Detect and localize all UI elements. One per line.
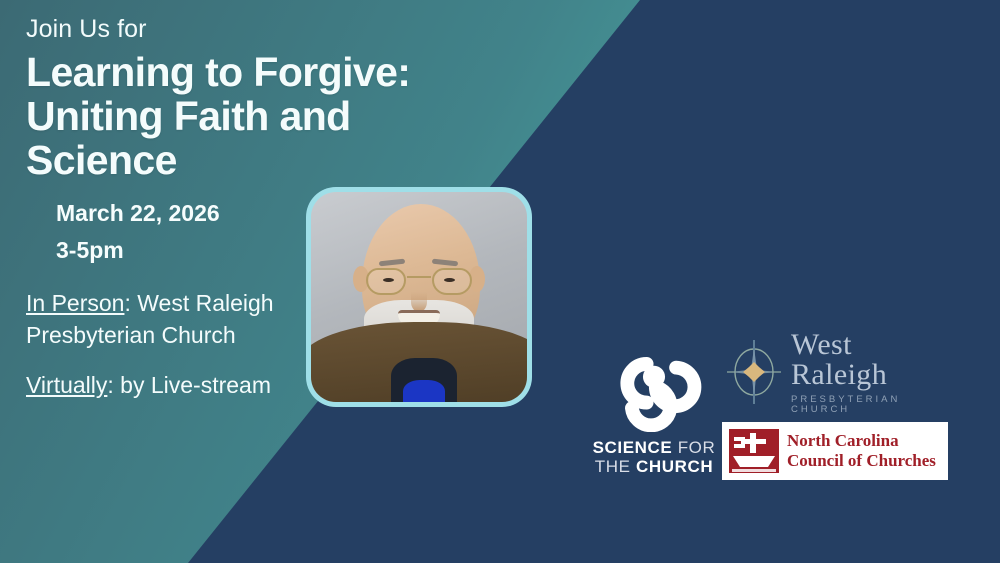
logo-west-raleigh-presbyterian: West Raleigh PRESBYTERIAN CHURCH — [723, 336, 941, 408]
logo-science-for-the-church: SCIENCE FOR THE CHURCH — [578, 340, 730, 477]
event-details: In Person: West Raleigh Presbyterian Chu… — [26, 288, 284, 401]
nccc-line-2: Council of Churches — [787, 451, 936, 471]
detail-separator-virtual: : — [107, 372, 120, 398]
sftc-word-for: FOR — [678, 438, 716, 457]
portrait-sweater — [403, 380, 445, 402]
interlocking-cs-monogram-icon — [578, 340, 730, 432]
sftc-word-the: THE — [595, 457, 631, 476]
detail-in-person: In Person: West Raleigh Presbyterian Chu… — [26, 288, 284, 351]
kicker-text: Join Us for — [26, 16, 326, 44]
event-promo-poster: Join Us for Learning to Forgive: Uniting… — [0, 0, 1000, 563]
detail-virtual: Virtually: by Live-stream — [26, 370, 284, 402]
portrait-jacket — [311, 322, 527, 402]
ship-and-cross-emblem-icon — [728, 427, 780, 475]
page-title: Learning to Forgive: Uniting Faith and S… — [26, 50, 546, 183]
logo-nc-council-text: North Carolina Council of Churches — [787, 431, 936, 470]
nccc-line-1: North Carolina — [787, 431, 936, 451]
logo-science-for-the-church-text: SCIENCE FOR THE CHURCH — [578, 438, 730, 477]
portrait-glasses-bridge — [407, 276, 431, 278]
headline-line-1: Learning to Forgive: — [26, 50, 546, 94]
sftc-word-church: CHURCH — [636, 457, 713, 476]
portrait-eye-right — [444, 278, 455, 282]
sftc-line-2: THE CHURCH — [578, 457, 730, 476]
headline-line-2: Uniting Faith and — [26, 94, 546, 138]
sftc-word-science: SCIENCE — [593, 438, 673, 457]
logo-west-raleigh-text: West Raleigh PRESBYTERIAN CHURCH — [791, 330, 941, 414]
headline-line-3: Science — [26, 138, 546, 182]
sftc-line-1: SCIENCE FOR — [578, 438, 730, 457]
event-date: March 22, 2026 — [56, 202, 326, 225]
event-datetime: March 22, 2026 3-5pm — [56, 202, 326, 262]
portrait-eye-left — [383, 278, 394, 282]
detail-label-virtual: Virtually — [26, 372, 107, 398]
detail-value-virtual: by Live-stream — [120, 372, 271, 398]
compass-star-emblem-icon — [723, 338, 785, 406]
logo-nc-council-of-churches: North Carolina Council of Churches — [722, 422, 948, 480]
event-time: 3-5pm — [56, 239, 326, 262]
wrpc-subtitle: PRESBYTERIAN CHURCH — [791, 395, 941, 414]
detail-separator-in-person: : — [124, 290, 137, 316]
poster-text-column: Join Us for Learning to Forgive: Uniting… — [26, 16, 326, 420]
speaker-portrait — [311, 192, 527, 402]
wrpc-name: West Raleigh — [791, 330, 941, 390]
eyeglasses-icon — [366, 268, 472, 296]
detail-label-in-person: In Person — [26, 290, 124, 316]
speaker-portrait-frame — [306, 187, 532, 407]
